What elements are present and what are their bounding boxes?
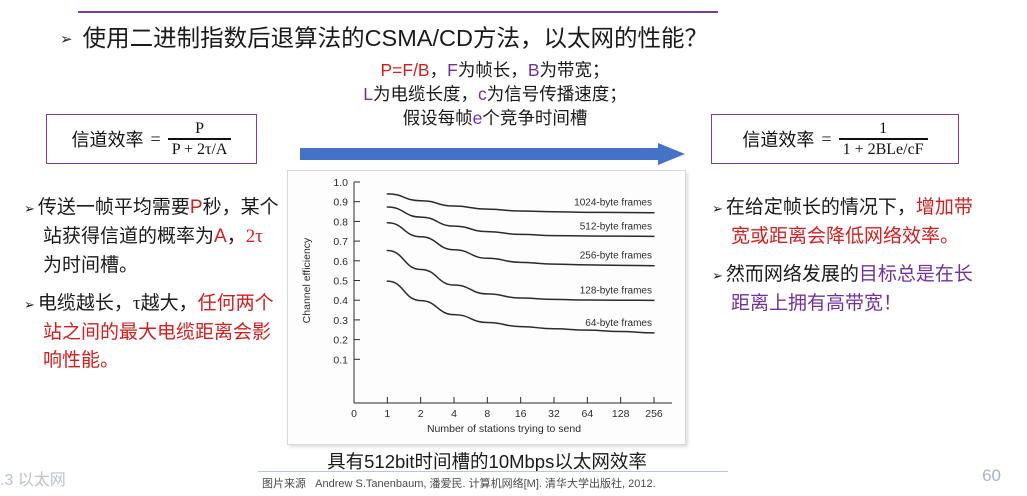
center-note-line-1: P=F/B，F为帧长，B为带宽；: [285, 58, 705, 82]
svg-text:0.4: 0.4: [333, 295, 348, 307]
left-bullet-icon-1: ➢: [24, 201, 35, 216]
svg-text:0.2: 0.2: [333, 335, 348, 347]
svg-text:1024-byte frames: 1024-byte frames: [574, 198, 652, 209]
svg-text:0.5: 0.5: [333, 276, 348, 288]
note-symbol-b: B: [528, 60, 540, 80]
formula-left-label: 信道效率: [72, 126, 144, 152]
svg-text:256-byte frames: 256-byte frames: [580, 251, 652, 262]
note-sep-1: ，: [430, 60, 448, 80]
svg-text:2: 2: [418, 408, 424, 420]
formula-left-denominator: P + 2τ/A: [168, 140, 232, 158]
right-p1-text-a: 在给定帧长的情况下，: [726, 197, 916, 218]
page-title: ➢ 使用二进制指数后退算法的CSMA/CD方法，以太网的性能？: [60, 24, 960, 52]
note-text-l: 为电缆长度，: [373, 84, 478, 104]
left-paragraph-2: ➢电缆越长，τ越大，任何两个站之间的最大电缆距离会影响性能。: [24, 290, 280, 377]
svg-text:0.8: 0.8: [333, 216, 348, 228]
svg-text:8: 8: [484, 408, 490, 420]
formula-box-right: 信道效率 = 1 1 + 2BLe/cF: [711, 114, 959, 164]
svg-text:32: 32: [548, 408, 560, 420]
footer-section-label: .3 以太网: [0, 466, 66, 490]
svg-text:0.9: 0.9: [333, 197, 348, 209]
svg-text:1.0: 1.0: [333, 177, 348, 189]
note-symbol-f: F: [447, 60, 458, 80]
svg-text:64: 64: [581, 408, 593, 420]
svg-text:64-byte frames: 64-byte frames: [585, 318, 652, 329]
right-bullet-icon-2: ➢: [712, 268, 723, 283]
note-symbol-l: L: [363, 84, 373, 104]
note-text-e-post: 个竞争时间槽: [482, 108, 587, 128]
svg-text:Number of stations trying to s: Number of stations trying to send: [427, 423, 581, 435]
page-number: 60: [982, 466, 1001, 486]
note-text-b: 为带宽；: [540, 60, 610, 80]
left-p2-text-a: 电缆越长，: [38, 293, 133, 314]
left-paragraph-1: ➢传送一帧平均需要P秒，某个站获得信道的概率为A，2τ为时间槽。: [24, 194, 280, 281]
formula-left-equals: =: [151, 129, 161, 150]
left-p1-sep: ，: [227, 226, 246, 247]
left-bullet-block: ➢传送一帧平均需要P秒，某个站获得信道的概率为A，2τ为时间槽。 ➢电缆越长，τ…: [24, 194, 280, 385]
title-text: 使用二进制指数后退算法的CSMA/CD方法，以太网的性能？: [83, 24, 708, 52]
svg-text:512-byte frames: 512-byte frames: [580, 221, 652, 232]
center-note: P=F/B，F为帧长，B为带宽； L为电缆长度，c为信号传播速度； 假设每帧e个…: [285, 58, 705, 130]
svg-text:0.7: 0.7: [333, 236, 348, 248]
blue-arrow-graphic: [300, 143, 685, 165]
svg-text:Channel efficiency: Channel efficiency: [301, 237, 313, 323]
svg-text:0.6: 0.6: [333, 256, 348, 268]
right-paragraph-2: ➢然而网络发展的目标总是在长距离上拥有高带宽！: [712, 261, 980, 319]
svg-text:128: 128: [612, 408, 630, 420]
left-p2-symbol-tau: τ: [133, 293, 141, 314]
source-citation: 图片来源 Andrew S.Tanenbaum, 潘爱民. 计算机网络[M]. …: [262, 475, 656, 491]
svg-text:0: 0: [351, 408, 357, 420]
right-p2-text-a: 然而网络发展的: [726, 264, 859, 285]
note-text-f: 为帧长，: [458, 60, 528, 80]
left-p1-text-g: 为时间槽。: [43, 255, 138, 276]
note-formula-pfb: P=F/B: [380, 60, 429, 80]
formula-left-fraction: P P + 2τ/A: [168, 120, 232, 158]
chart-figure: 0.10.20.30.40.50.60.70.80.91.00124816326…: [287, 170, 686, 445]
svg-text:0.3: 0.3: [333, 315, 348, 327]
formula-box-left: 信道效率 = P P + 2τ/A: [46, 114, 257, 164]
left-bullet-icon-2: ➢: [24, 297, 35, 312]
svg-text:0.1: 0.1: [333, 354, 348, 366]
svg-text:4: 4: [451, 408, 457, 420]
note-symbol-c: c: [478, 84, 487, 104]
center-note-line-2: L为电缆长度，c为信号传播速度；: [285, 82, 705, 106]
right-bullet-block: ➢在给定帧长的情况下，增加带宽或距离会降低网络效率。 ➢然而网络发展的目标总是在…: [712, 194, 980, 328]
left-p1-symbol-2tau: 2τ: [246, 226, 263, 247]
left-p2-text-c: 越大，: [141, 293, 198, 314]
title-divider: [78, 11, 718, 13]
title-bullet-icon: ➢: [60, 32, 73, 47]
source-text: Andrew S.Tanenbaum, 潘爱民. 计算机网络[M]. 清华大学出…: [315, 478, 655, 490]
formula-right-equals: =: [821, 129, 831, 150]
formula-right-numerator: 1: [872, 120, 894, 138]
channel-efficiency-chart: 0.10.20.30.40.50.60.70.80.91.00124816326…: [288, 171, 685, 444]
note-text-e-pre: 假设每帧: [403, 108, 473, 128]
svg-text:1: 1: [384, 408, 390, 420]
svg-text:256: 256: [645, 408, 663, 420]
formula-right-denominator: 1 + 2BLe/cF: [839, 140, 928, 158]
source-divider: [258, 471, 728, 472]
left-p1-symbol-p: P: [190, 197, 203, 218]
note-text-c: 为信号传播速度；: [487, 84, 627, 104]
note-symbol-e: e: [473, 108, 483, 128]
center-note-line-3: 假设每帧e个竞争时间槽: [285, 106, 705, 130]
formula-left-numerator: P: [188, 120, 211, 138]
slide-canvas: ➢ 使用二进制指数后退算法的CSMA/CD方法，以太网的性能？ P=F/B，F为…: [0, 0, 1027, 496]
svg-text:128-byte frames: 128-byte frames: [580, 285, 652, 296]
source-prefix: 图片来源: [262, 478, 306, 490]
formula-right-fraction: 1 1 + 2BLe/cF: [839, 120, 928, 158]
left-p1-text-a: 传送一帧平均需要: [38, 197, 190, 218]
svg-text:16: 16: [515, 408, 527, 420]
left-p1-symbol-a: A: [214, 226, 227, 247]
right-bullet-icon-1: ➢: [712, 201, 723, 216]
formula-right-label: 信道效率: [742, 126, 814, 152]
right-paragraph-1: ➢在给定帧长的情况下，增加带宽或距离会降低网络效率。: [712, 194, 980, 252]
